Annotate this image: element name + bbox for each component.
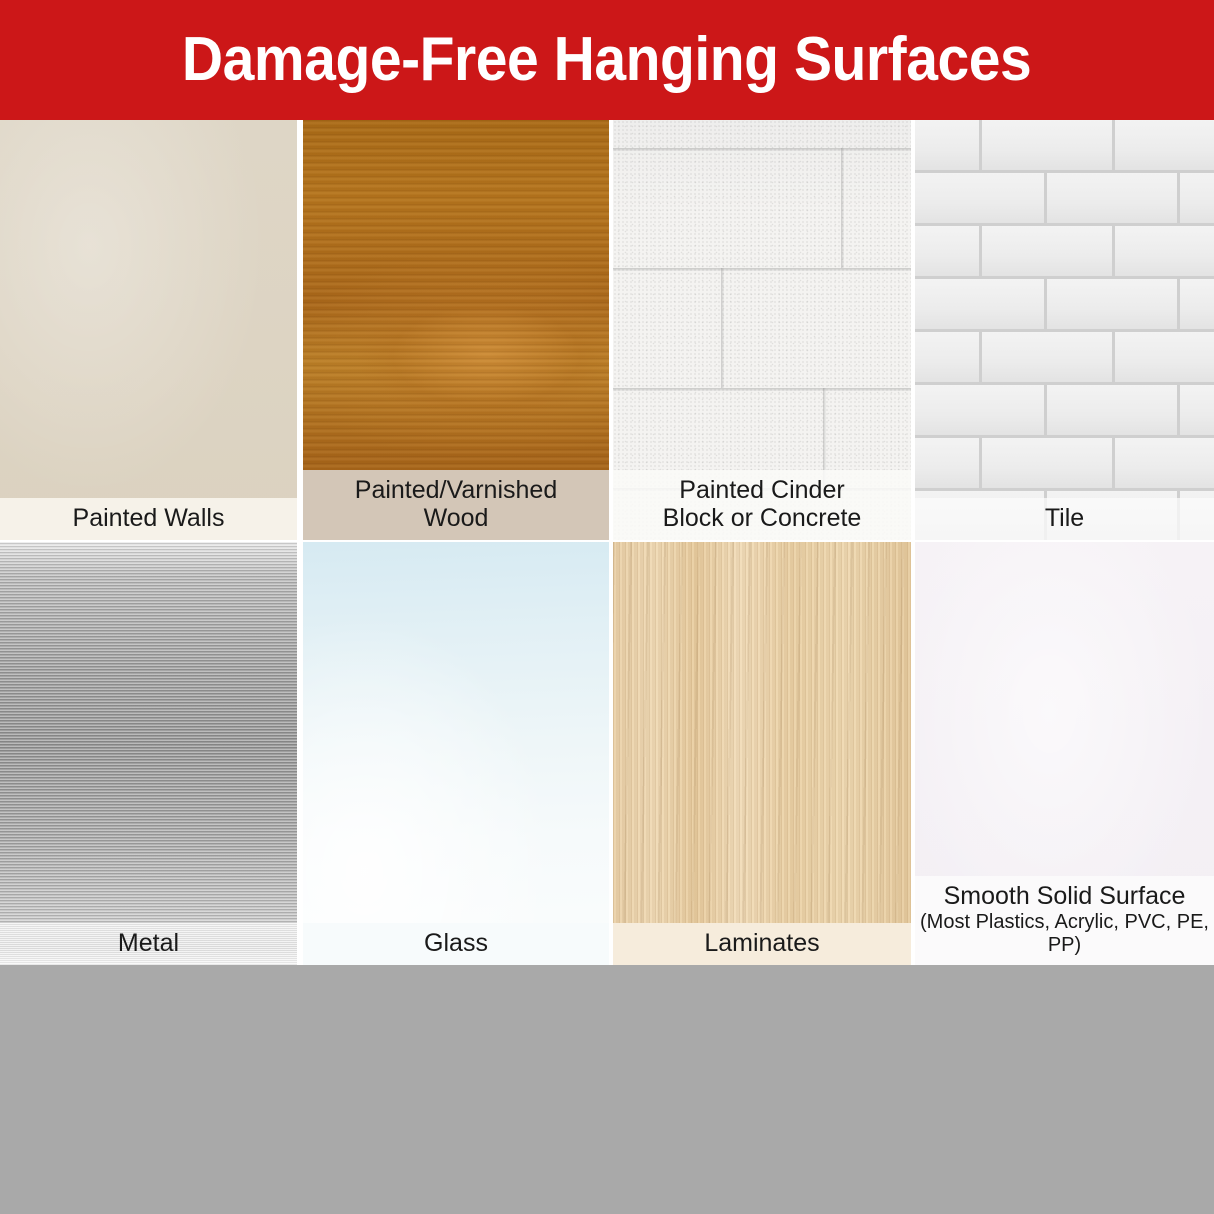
surface-label-tile: Tile bbox=[915, 498, 1214, 540]
light-oak-laminate-texture bbox=[613, 542, 911, 965]
surface-label-line2: Block or Concrete bbox=[663, 504, 862, 532]
surface-cell-smooth-solid-surface: Smooth Solid Surface (Most Plastics, Acr… bbox=[915, 542, 1214, 965]
page-title: Damage-Free Hanging Surfaces bbox=[182, 29, 1031, 91]
surface-label-painted-cinder-block: Painted Cinder Block or Concrete bbox=[613, 470, 911, 540]
surface-cell-painted-cinder-block: Painted Cinder Block or Concrete bbox=[613, 120, 911, 540]
surface-label-text: Smooth Solid Surface bbox=[944, 882, 1186, 910]
approved-surfaces-grid: Painted Walls Painted/Varnished Wood bbox=[0, 120, 1214, 965]
surface-label-line2: Wood bbox=[424, 504, 489, 532]
surface-cell-painted-walls: Painted Walls bbox=[0, 120, 297, 540]
brushed-metal-texture bbox=[0, 542, 297, 965]
surface-label-metal: Metal bbox=[0, 923, 297, 965]
do-not-use-on-bar: Do Not Use On Wallpaper Fabrics Textured… bbox=[0, 965, 1214, 1214]
surface-label-laminates: Laminates bbox=[613, 923, 911, 965]
surface-label-painted-walls: Painted Walls bbox=[0, 498, 297, 540]
surface-cell-metal: Metal bbox=[0, 542, 297, 965]
subway-tile-texture bbox=[915, 120, 1214, 540]
surface-label-text: Metal bbox=[118, 929, 179, 957]
surface-cell-glass: Glass bbox=[303, 542, 609, 965]
surface-label-text: Glass bbox=[424, 929, 488, 957]
surface-cell-laminates: Laminates bbox=[613, 542, 911, 965]
surface-label-line1: Painted/Varnished bbox=[355, 476, 557, 504]
surface-label-text: Tile bbox=[1045, 504, 1084, 532]
surface-sublabel-text: (Most Plastics, Acrylic, PVC, PE, PP) bbox=[919, 911, 1210, 957]
header-banner: Damage-Free Hanging Surfaces bbox=[0, 0, 1214, 120]
surface-label-text: Laminates bbox=[704, 929, 819, 957]
surface-label-line1: Painted Cinder bbox=[679, 476, 844, 504]
infographic-poster: Damage-Free Hanging Surfaces Painted Wal… bbox=[0, 0, 1214, 1214]
glass-pane-texture bbox=[303, 542, 609, 965]
surface-label-smooth-solid-surface: Smooth Solid Surface (Most Plastics, Acr… bbox=[915, 876, 1214, 965]
surface-cell-painted-varnished-wood: Painted/Varnished Wood bbox=[303, 120, 609, 540]
surface-label-text: Painted Walls bbox=[73, 504, 225, 532]
surface-cell-tile: Tile bbox=[915, 120, 1214, 540]
painted-wall-texture bbox=[0, 120, 297, 540]
surface-label-painted-varnished-wood: Painted/Varnished Wood bbox=[303, 470, 609, 540]
surface-label-glass: Glass bbox=[303, 923, 609, 965]
